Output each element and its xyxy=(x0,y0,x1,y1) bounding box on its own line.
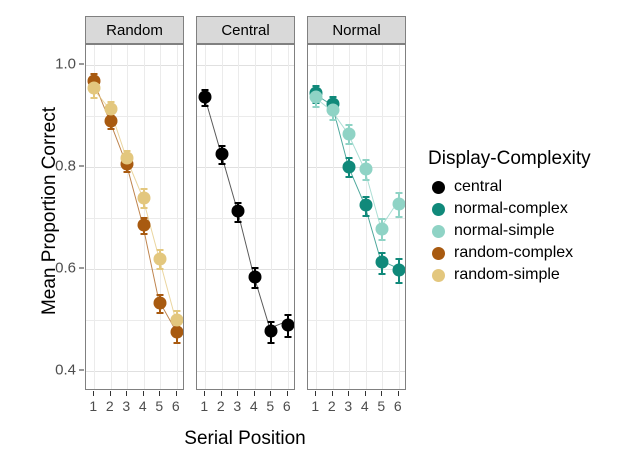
data-point xyxy=(121,151,134,164)
y-axis-tick-mark xyxy=(79,267,84,268)
error-bar-cap xyxy=(395,192,402,194)
facet-strip-label: Normal xyxy=(307,16,406,44)
gridline-horizontal-minor xyxy=(197,116,294,117)
legend-swatch-icon xyxy=(428,176,448,198)
gridline-vertical xyxy=(222,45,223,389)
data-point xyxy=(137,219,150,232)
facet-strip-label: Random xyxy=(85,16,184,44)
legend-title: Display-Complexity xyxy=(428,148,591,170)
error-bar-cap xyxy=(362,196,369,198)
x-axis-tick-label: 6 xyxy=(280,398,294,414)
x-axis-tick-mark xyxy=(159,391,160,396)
error-bar-cap xyxy=(235,221,242,223)
error-bar-cap xyxy=(107,128,114,130)
x-axis-title: Serial Position xyxy=(75,428,415,450)
x-axis-tick-mark xyxy=(348,391,349,396)
data-point xyxy=(199,90,212,103)
x-axis-tick-label: 1 xyxy=(86,398,100,414)
x-axis-tick-mark xyxy=(204,391,205,396)
x-axis-tick-label: 5 xyxy=(374,398,388,414)
error-bar-cap xyxy=(284,314,291,316)
error-bar-cap xyxy=(268,342,275,344)
error-bar-cap xyxy=(251,267,258,269)
data-point xyxy=(104,102,117,115)
y-axis-tick-mark xyxy=(79,64,84,65)
x-axis-tick-label: 3 xyxy=(230,398,244,414)
x-axis-tick-label: 6 xyxy=(169,398,183,414)
error-bar-cap xyxy=(313,106,320,108)
error-bar-cap xyxy=(379,252,386,254)
data-point xyxy=(376,222,389,235)
gridline-horizontal-minor xyxy=(86,320,183,321)
gridline-vertical xyxy=(111,45,112,389)
plot-area xyxy=(307,44,406,390)
data-point xyxy=(104,115,117,128)
legend-item-label: random-simple xyxy=(454,266,560,284)
x-axis-tick-mark xyxy=(254,391,255,396)
gridline-horizontal-minor xyxy=(197,320,294,321)
legend-item[interactable]: normal-complex xyxy=(428,198,591,220)
legend-item[interactable]: central xyxy=(428,176,591,198)
legend-item-label: random-complex xyxy=(454,244,573,262)
x-axis-tick-label: 4 xyxy=(247,398,261,414)
gridline-vertical xyxy=(382,45,383,389)
error-bar-cap xyxy=(346,176,353,178)
x-axis-tick-mark xyxy=(270,391,271,396)
error-bar-cap xyxy=(395,282,402,284)
error-bar-cap xyxy=(140,233,147,235)
data-point xyxy=(359,163,372,176)
y-axis-tick-mark xyxy=(79,369,84,370)
error-bar-cap xyxy=(124,171,131,173)
error-bar-cap xyxy=(329,119,336,121)
data-point xyxy=(343,160,356,173)
gridline-horizontal-major xyxy=(197,371,294,372)
x-axis-tick-mark xyxy=(110,391,111,396)
data-point xyxy=(232,205,245,218)
x-axis-tick-mark xyxy=(143,391,144,396)
error-bar-cap xyxy=(173,342,180,344)
x-axis-tick-label: 3 xyxy=(119,398,133,414)
error-bar-cap xyxy=(379,218,386,220)
data-point xyxy=(88,82,101,95)
gridline-horizontal-minor xyxy=(308,320,405,321)
gridline-horizontal-major xyxy=(86,371,183,372)
error-bar-cap xyxy=(235,202,242,204)
y-axis-tick-label: 0.4 xyxy=(32,361,76,378)
data-point xyxy=(215,147,228,160)
error-bar-cap xyxy=(362,179,369,181)
data-point xyxy=(392,263,405,276)
gridline-horizontal-major xyxy=(308,371,405,372)
gridline-vertical xyxy=(366,45,367,389)
x-axis-tick-mark xyxy=(93,391,94,396)
data-point xyxy=(376,256,389,269)
plot-area xyxy=(196,44,295,390)
chart-root: Mean Proportion Correct Serial Position … xyxy=(0,0,640,465)
gridline-vertical xyxy=(255,45,256,389)
gridline-vertical xyxy=(127,45,128,389)
data-point xyxy=(170,313,183,326)
error-bar-cap xyxy=(284,336,291,338)
data-point xyxy=(248,271,261,284)
x-axis-tick-label: 1 xyxy=(197,398,211,414)
legend-swatch-icon xyxy=(428,198,448,220)
legend-swatch-icon xyxy=(428,264,448,286)
legend-items: centralnormal-complexnormal-simplerandom… xyxy=(428,176,591,286)
gridline-horizontal-major xyxy=(197,167,294,168)
gridline-horizontal-major xyxy=(86,167,183,168)
facet-panel: Random xyxy=(85,16,184,390)
data-point xyxy=(265,325,278,338)
y-axis-tick-label: 0.6 xyxy=(32,259,76,276)
gridline-horizontal-major xyxy=(308,65,405,66)
gridline-horizontal-major xyxy=(197,269,294,270)
x-axis-tick-mark xyxy=(221,391,222,396)
gridline-horizontal-minor xyxy=(86,116,183,117)
y-axis-tick-label: 1.0 xyxy=(32,56,76,73)
error-bar-cap xyxy=(202,105,209,107)
data-point xyxy=(392,197,405,210)
legend-item-label: normal-complex xyxy=(454,200,568,218)
gridline-horizontal-major xyxy=(86,65,183,66)
data-point xyxy=(154,252,167,265)
x-axis-tick-mark xyxy=(398,391,399,396)
x-axis-tick-mark xyxy=(381,391,382,396)
gridline-horizontal-major xyxy=(86,269,183,270)
x-axis-tick-label: 5 xyxy=(152,398,166,414)
gridline-vertical xyxy=(160,45,161,389)
legend-item[interactable]: random-complex xyxy=(428,242,591,264)
data-point xyxy=(326,104,339,117)
legend-item[interactable]: normal-simple xyxy=(428,220,591,242)
legend: Display-Complexity centralnormal-complex… xyxy=(428,148,591,286)
x-axis-tick-mark xyxy=(287,391,288,396)
x-axis-tick-label: 2 xyxy=(103,398,117,414)
legend-item[interactable]: random-simple xyxy=(428,264,591,286)
x-axis-tick-label: 2 xyxy=(214,398,228,414)
error-bar-cap xyxy=(157,312,164,314)
error-bar-cap xyxy=(268,321,275,323)
legend-swatch-icon xyxy=(428,242,448,264)
facet-panel: Central xyxy=(196,16,295,390)
error-bar-cap xyxy=(173,310,180,312)
error-bar-cap xyxy=(379,273,386,275)
gridline-horizontal-major xyxy=(197,65,294,66)
error-bar-cap xyxy=(346,143,353,145)
x-axis-tick-mark xyxy=(176,391,177,396)
error-bar-cap xyxy=(157,268,164,270)
gridline-horizontal-minor xyxy=(308,218,405,219)
x-axis-tick-label: 4 xyxy=(358,398,372,414)
x-axis-tick-label: 5 xyxy=(263,398,277,414)
x-axis-tick-label: 2 xyxy=(325,398,339,414)
error-bar-cap xyxy=(362,215,369,217)
error-bar-cap xyxy=(140,207,147,209)
error-bar-cap xyxy=(395,216,402,218)
error-bar-cap xyxy=(362,159,369,161)
data-point xyxy=(310,90,323,103)
error-bar-cap xyxy=(218,163,225,165)
x-axis-tick-label: 3 xyxy=(341,398,355,414)
facet-strip-label: Central xyxy=(196,16,295,44)
x-axis-tick-mark xyxy=(237,391,238,396)
y-axis-tick-label: 0.8 xyxy=(32,158,76,175)
x-axis-tick-mark xyxy=(126,391,127,396)
data-point xyxy=(170,326,183,339)
x-axis-tick-mark xyxy=(365,391,366,396)
data-point xyxy=(359,199,372,212)
gridline-horizontal-minor xyxy=(86,218,183,219)
legend-swatch-icon xyxy=(428,220,448,242)
data-point xyxy=(343,127,356,140)
legend-item-label: central xyxy=(454,178,502,196)
gridline-horizontal-minor xyxy=(197,218,294,219)
gridline-vertical xyxy=(349,45,350,389)
x-axis-tick-label: 6 xyxy=(391,398,405,414)
y-axis-title: Mean Proportion Correct xyxy=(39,31,61,391)
series-connector-lines xyxy=(86,45,183,389)
x-axis-tick-mark xyxy=(332,391,333,396)
error-bar-cap xyxy=(91,97,98,99)
y-axis-tick-mark xyxy=(79,166,84,167)
gridline-horizontal-major xyxy=(308,167,405,168)
data-point xyxy=(137,191,150,204)
legend-item-label: normal-simple xyxy=(454,222,554,240)
gridline-horizontal-major xyxy=(308,269,405,270)
error-bar-cap xyxy=(379,239,386,241)
x-axis-tick-label: 1 xyxy=(308,398,322,414)
gridline-horizontal-minor xyxy=(308,116,405,117)
facet-panel: Normal xyxy=(307,16,406,390)
x-axis-tick-label: 4 xyxy=(136,398,150,414)
error-bar-cap xyxy=(251,287,258,289)
error-bar-cap xyxy=(157,249,164,251)
x-axis-tick-mark xyxy=(315,391,316,396)
data-point xyxy=(154,296,167,309)
data-point xyxy=(281,318,294,331)
error-bar-cap xyxy=(395,258,402,260)
plot-area xyxy=(85,44,184,390)
